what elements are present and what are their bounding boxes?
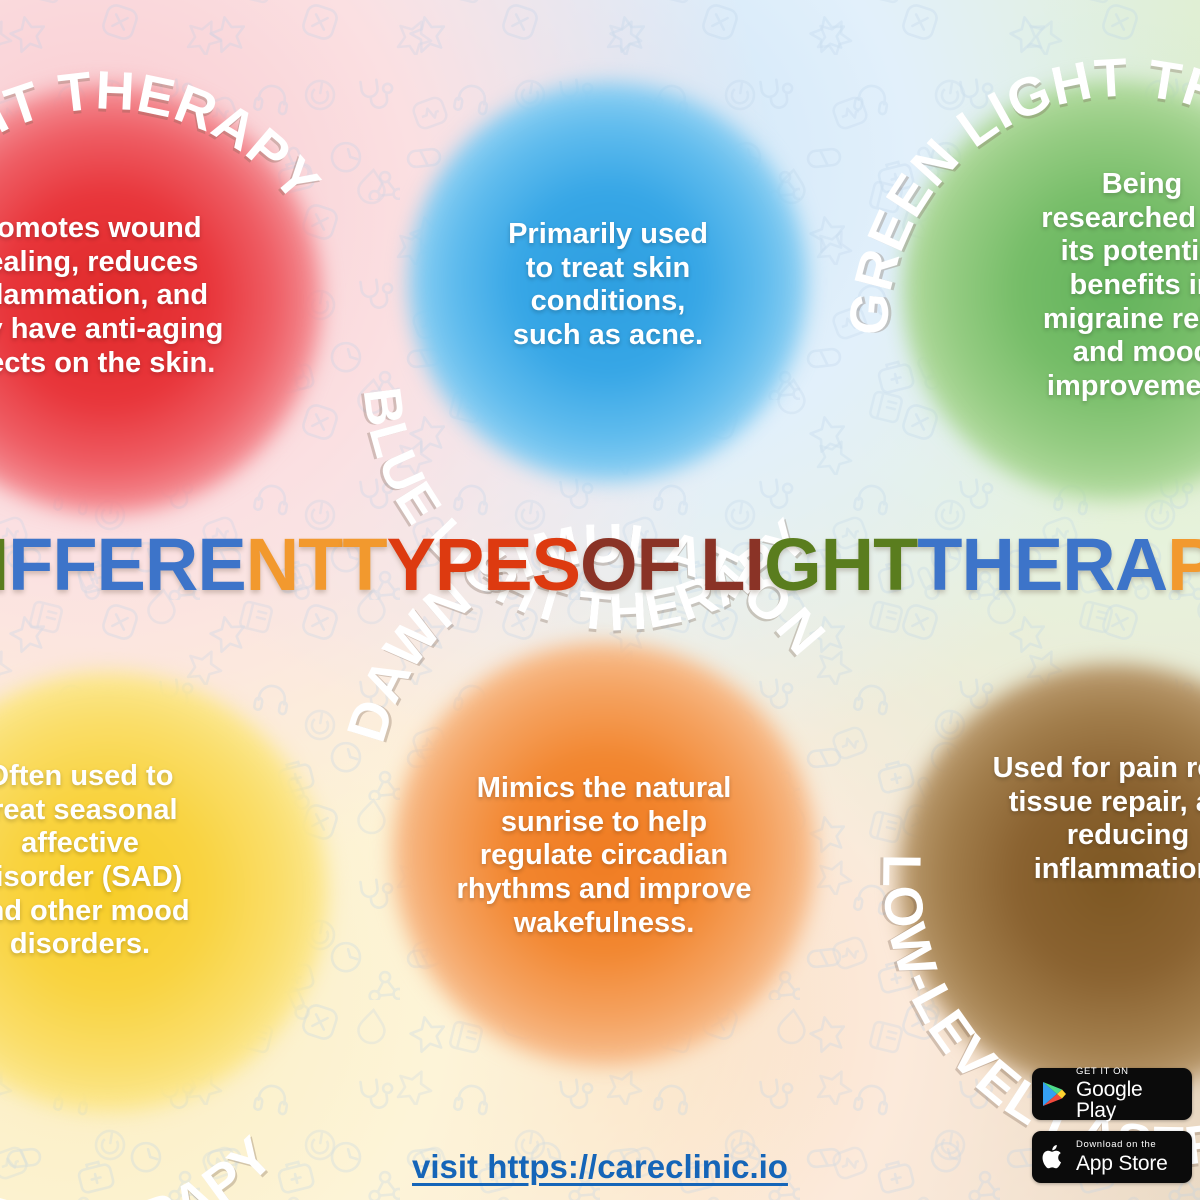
- page-title-segment-0: DI: [0, 522, 8, 607]
- page-title-segment-4: YPES: [387, 522, 580, 607]
- page-title-segment-8: PY: [1167, 522, 1200, 607]
- body-blue-light-therapy: Primarily used to treat skin conditions,…: [448, 218, 768, 353]
- body-low-level-laser: Used for pain relief, tissue repair, and…: [978, 752, 1200, 887]
- body-red-light-therapy: Promotes wound healing, reduces inflamma…: [0, 212, 234, 380]
- apple-icon: [1041, 1142, 1067, 1172]
- app-store-badge[interactable]: Download on the App Store: [1032, 1131, 1192, 1183]
- page-title-segment-6: GHT: [764, 522, 917, 607]
- app-store-badges: GET IT ON Google Play Download on the Ap…: [1032, 1068, 1192, 1183]
- body-bright-light-therapy: Often used to treat seasonal affective d…: [0, 760, 230, 962]
- app-store-small-label: Download on the: [1076, 1140, 1168, 1150]
- page-title-segment-5: OF LI: [580, 522, 764, 607]
- google-play-badge[interactable]: GET IT ON Google Play: [1032, 1068, 1192, 1120]
- body-green-light-therapy: Being researched for its potential benef…: [992, 168, 1200, 403]
- body-dawn-simulation: Mimics the natural sunrise to help regul…: [432, 772, 776, 940]
- google-play-small-label: GET IT ON: [1076, 1067, 1183, 1077]
- page-title: DIFFERENT TYPES OF LIGHT THERAPY: [0, 518, 1200, 610]
- page-title-segment-7: THERA: [917, 522, 1167, 607]
- infographic-canvas: RED LIGHT THERAPY RED LIGHT THERAPY BLUE…: [0, 0, 1200, 1200]
- visit-website-link[interactable]: visit https://careclinic.io: [0, 1148, 1200, 1186]
- google-play-icon: [1041, 1080, 1067, 1108]
- page-title-segment-2: NT: [246, 522, 343, 607]
- app-store-big-label: App Store: [1076, 1153, 1168, 1174]
- page-title-segment-1: FFERE: [8, 522, 246, 607]
- page-title-segment-3: T: [342, 522, 386, 607]
- google-play-big-label: Google Play: [1076, 1079, 1183, 1121]
